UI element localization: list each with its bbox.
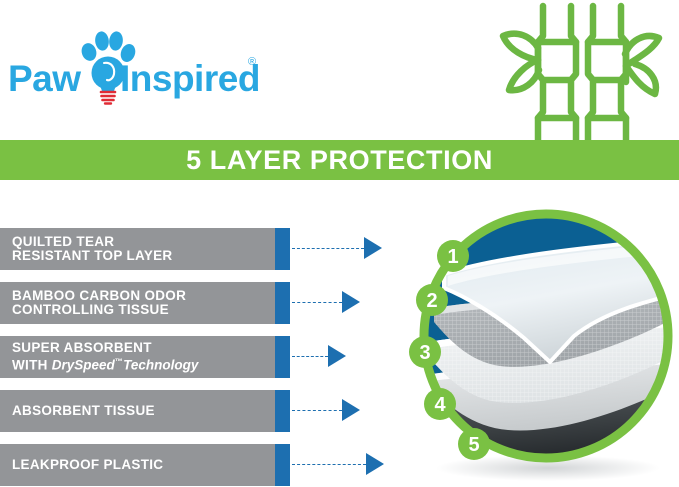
layer-bar-accent-5: [275, 444, 290, 486]
layer-label-line2-prefix-3: WITH: [12, 358, 52, 373]
svg-text:3: 3: [419, 342, 430, 364]
layer-bar-accent-2: [275, 282, 290, 324]
layer-label-line1-4: ABSORBENT TISSUE: [12, 404, 270, 419]
svg-text:4: 4: [434, 394, 446, 416]
header: Paw Inspired ®: [0, 0, 679, 140]
layer-bar-2: BAMBOO CARBON ODOR CONTROLLING TISSUE: [0, 282, 290, 324]
logo-text-paw: Paw: [8, 60, 81, 97]
layer-bar-text-1: QUILTED TEAR RESISTANT TOP LAYER: [12, 228, 270, 270]
connector-arrow-2: [342, 291, 360, 313]
layer-label-line2-3: WITH DrySpeed™Technology: [12, 355, 270, 373]
banner-title: 5 LAYER PROTECTION: [186, 145, 493, 176]
connector-arrow-5: [366, 453, 384, 475]
layer-label-line2-tail-3: Technology: [123, 358, 198, 373]
layer-bar-3: SUPER ABSORBENT WITH DrySpeed™Technology: [0, 336, 290, 378]
connector-dash-1: [292, 248, 364, 249]
brand-logo: Paw Inspired ®: [8, 28, 268, 108]
connector-arrow-1: [364, 237, 382, 259]
registered-trademark-mark: ®: [248, 56, 256, 68]
layer-row-1: QUILTED TEAR RESISTANT TOP LAYER: [0, 228, 420, 270]
layer-bar-text-3: SUPER ABSORBENT WITH DrySpeed™Technology: [12, 336, 270, 378]
layer-bar-accent-1: [275, 228, 290, 270]
layer-bar-text-2: BAMBOO CARBON ODOR CONTROLLING TISSUE: [12, 282, 270, 324]
logo-text-inspired: Inspired: [120, 60, 260, 97]
svg-text:5: 5: [468, 434, 479, 456]
layer-bar-5: LEAKPROOF PLASTIC: [0, 444, 290, 486]
connector-dash-4: [292, 410, 342, 411]
layer-label-line1-5: LEAKPROOF PLASTIC: [12, 458, 270, 473]
layer-label-line1-2: BAMBOO CARBON ODOR: [12, 289, 270, 304]
layer-label-line2-1: RESISTANT TOP LAYER: [12, 249, 270, 264]
dryspeed-brandmark: DrySpeed: [52, 358, 115, 373]
svg-text:1: 1: [447, 246, 458, 268]
layer-row-2: BAMBOO CARBON ODOR CONTROLLING TISSUE: [0, 282, 420, 324]
layer-stack-illustration: 1 2 3 4 5: [408, 196, 676, 481]
layer-label-list: QUILTED TEAR RESISTANT TOP LAYER BAMBOO …: [0, 228, 420, 468]
connector-arrow-4: [342, 399, 360, 421]
layer-bar-accent-4: [275, 390, 290, 432]
layer-label-line1-1: QUILTED TEAR: [12, 235, 270, 250]
layer-row-3: SUPER ABSORBENT WITH DrySpeed™Technology: [0, 336, 420, 378]
layer-label-line1-3: SUPER ABSORBENT: [12, 341, 270, 356]
svg-text:2: 2: [426, 290, 437, 312]
layer-bar-text-4: ABSORBENT TISSUE: [12, 390, 270, 432]
layer-label-line2-2: CONTROLLING TISSUE: [12, 303, 270, 318]
layer-row-5: LEAKPROOF PLASTIC: [0, 444, 420, 486]
connector-arrow-3: [328, 345, 346, 367]
connector-dash-3: [292, 356, 328, 357]
layer-row-4: ABSORBENT TISSUE: [0, 390, 420, 432]
connector-dash-2: [292, 302, 342, 303]
layer-bar-accent-3: [275, 336, 290, 378]
bamboo-stalks-icon: [475, 2, 665, 142]
layer-bar-1: QUILTED TEAR RESISTANT TOP LAYER: [0, 228, 290, 270]
section-banner: 5 LAYER PROTECTION: [0, 140, 679, 180]
layer-bar-4: ABSORBENT TISSUE: [0, 390, 290, 432]
layer-bar-text-5: LEAKPROOF PLASTIC: [12, 444, 270, 486]
connector-dash-5: [292, 464, 366, 465]
trademark-mark-3: ™: [115, 357, 123, 366]
